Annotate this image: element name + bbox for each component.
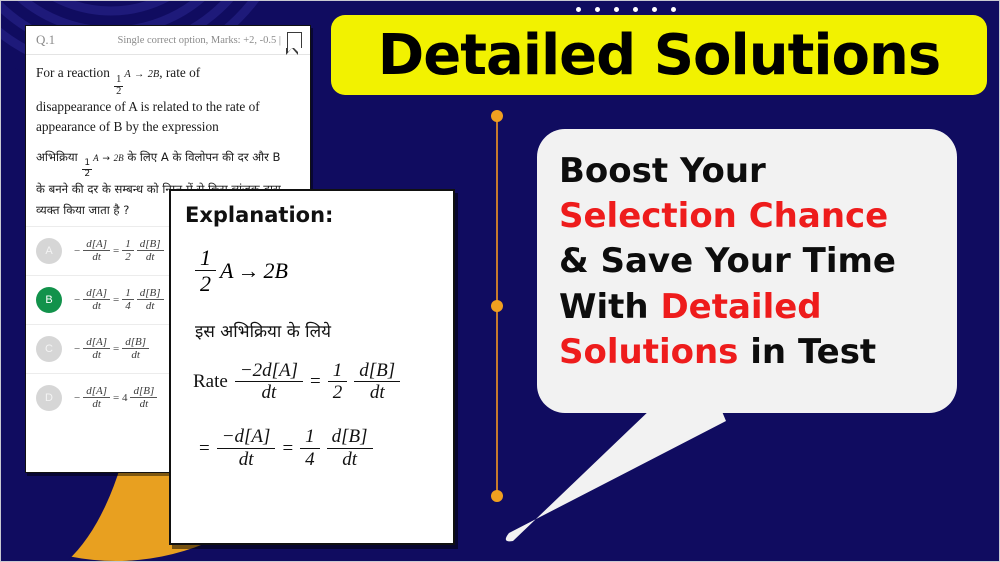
- bubble-line-2: Selection Chance: [559, 194, 935, 239]
- bubble-line-5: Solutions in Test: [559, 330, 935, 375]
- hin-arrow: →: [102, 154, 110, 164]
- opt-b-rhs: d[B] dt: [137, 287, 164, 312]
- page-title: Detailed Solutions: [378, 23, 940, 88]
- opt-c-rhs: d[B] dt: [122, 336, 149, 361]
- opt-c-minus: −: [74, 343, 80, 355]
- opt-a-coef: 1 2: [122, 238, 134, 263]
- opt-d-eq: = 4: [113, 392, 127, 404]
- eng-part2: , rate of: [159, 65, 200, 80]
- explanation-card: Explanation: 1 2 A → 2B इस अभिक्रिया के …: [169, 189, 455, 545]
- exp-eq2-coef: 1 2: [328, 360, 348, 405]
- explanation-hindi-line: इस अभिक्रिया के लिये: [195, 319, 439, 342]
- hfrac-den: 2: [82, 170, 92, 179]
- opt-a-lhs: d[A] dt: [83, 238, 110, 263]
- bubble-line-4-red: Detailed: [660, 287, 821, 327]
- question-header: Q.1 Single correct option, Marks: +2, -0…: [26, 26, 310, 55]
- exp-eq3-lhs: −d[A] dt: [217, 426, 276, 471]
- hin-part2: के लिए A के विलोपन की दर और B: [127, 150, 280, 164]
- eng-reactant: A: [124, 69, 130, 80]
- exp-eq2-prefix: Rate: [193, 371, 228, 393]
- timeline-dot-2: [491, 300, 503, 312]
- opt-b-minus: −: [74, 294, 80, 306]
- question-english-line3: appearance of B by the expression: [36, 117, 300, 137]
- option-equation-d: − d[A] dt = 4 d[B] dt: [74, 385, 157, 410]
- bubble-line-4: With Detailed: [559, 285, 935, 330]
- opt-d-lhs: d[A] dt: [83, 385, 110, 410]
- bubble-line-5-black: in Test: [738, 332, 876, 372]
- option-badge-a[interactable]: A: [36, 238, 62, 264]
- bubble-line-4-black: With: [559, 287, 660, 327]
- option-badge-b[interactable]: B: [36, 287, 62, 313]
- bubble-line-3: & Save Your Time: [559, 239, 935, 284]
- hin-fraction: 1 2: [82, 159, 92, 179]
- opt-c-lhs: d[A] dt: [83, 336, 110, 361]
- eng-fraction: 1 2: [114, 75, 123, 98]
- bubble-line-5-red: Solutions: [559, 332, 738, 372]
- exp-eq3-rhs: d[B] dt: [327, 426, 373, 471]
- exp-eq1-reactant: A: [220, 258, 233, 284]
- opt-b-eq: =: [113, 294, 119, 306]
- option-badge-d[interactable]: D: [36, 385, 62, 411]
- hin-reactant: A: [93, 153, 99, 163]
- frac-den: 2: [114, 87, 123, 98]
- speech-bubble: Boost Your Selection Chance & Save Your …: [537, 129, 957, 413]
- question-english-line2: disappearance of A is related to the rat…: [36, 97, 300, 117]
- eng-arrow: →: [134, 69, 144, 80]
- exp-eq2-lhs: −2d[A] dt: [235, 360, 303, 405]
- exp-eq2-rhs: d[B] dt: [354, 360, 400, 405]
- exp-eq3-prefix: =: [199, 438, 210, 460]
- hin-part1: अभिक्रिया: [36, 150, 78, 164]
- question-meta: Single correct option, Marks: +2, -0.5 |: [118, 35, 281, 46]
- question-english-text: For a reaction 1 2 A → 2B, rate of: [36, 63, 300, 97]
- timeline-dot-1: [491, 110, 503, 122]
- option-badge-c[interactable]: C: [36, 336, 62, 362]
- explanation-title: Explanation:: [185, 203, 439, 227]
- option-equation-b: − d[A] dt = 1 4 d[B] dt: [74, 287, 164, 312]
- question-number: Q.1: [36, 32, 55, 48]
- bubble-line-1: Boost Your: [559, 149, 935, 194]
- hin-product: 2B: [114, 153, 124, 163]
- exp-eq2-equals: =: [310, 371, 321, 393]
- promo-slide: Detailed Solutions Q.1 Single correct op…: [0, 0, 1000, 562]
- opt-b-lhs: d[A] dt: [83, 287, 110, 312]
- opt-d-minus: −: [74, 392, 80, 404]
- exp-eq1-fraction: 1 2: [195, 245, 216, 297]
- explanation-equation-1: 1 2 A → 2B: [195, 245, 439, 297]
- frac-num: 1: [114, 75, 123, 87]
- explanation-equation-3: = −d[A] dt = 1 4 d[B] dt: [199, 426, 439, 471]
- exp-eq3-equals: =: [282, 438, 293, 460]
- exp-eq1-arrow: →: [237, 258, 259, 284]
- opt-b-coef: 1 4: [122, 287, 134, 312]
- bookmark-icon[interactable]: [287, 32, 302, 48]
- opt-c-eq: =: [113, 343, 119, 355]
- opt-d-rhs: d[B] dt: [130, 385, 157, 410]
- explanation-equation-2: Rate −2d[A] dt = 1 2 d[B] dt: [193, 360, 439, 405]
- exp-eq3-coef: 1 4: [300, 426, 320, 471]
- eng-part1: For a reaction: [36, 65, 110, 80]
- eng-product: 2B: [148, 69, 160, 80]
- exp-eq1-product: 2B: [263, 258, 287, 284]
- opt-a-minus: −: [74, 245, 80, 257]
- title-banner: Detailed Solutions: [331, 15, 987, 95]
- header-dots-decor: [576, 7, 676, 12]
- option-equation-a: − d[A] dt = 1 2 d[B] dt: [74, 238, 164, 263]
- option-equation-c: − d[A] dt = d[B] dt: [74, 336, 149, 361]
- opt-a-rhs: d[B] dt: [137, 238, 164, 263]
- opt-a-eq: =: [113, 245, 119, 257]
